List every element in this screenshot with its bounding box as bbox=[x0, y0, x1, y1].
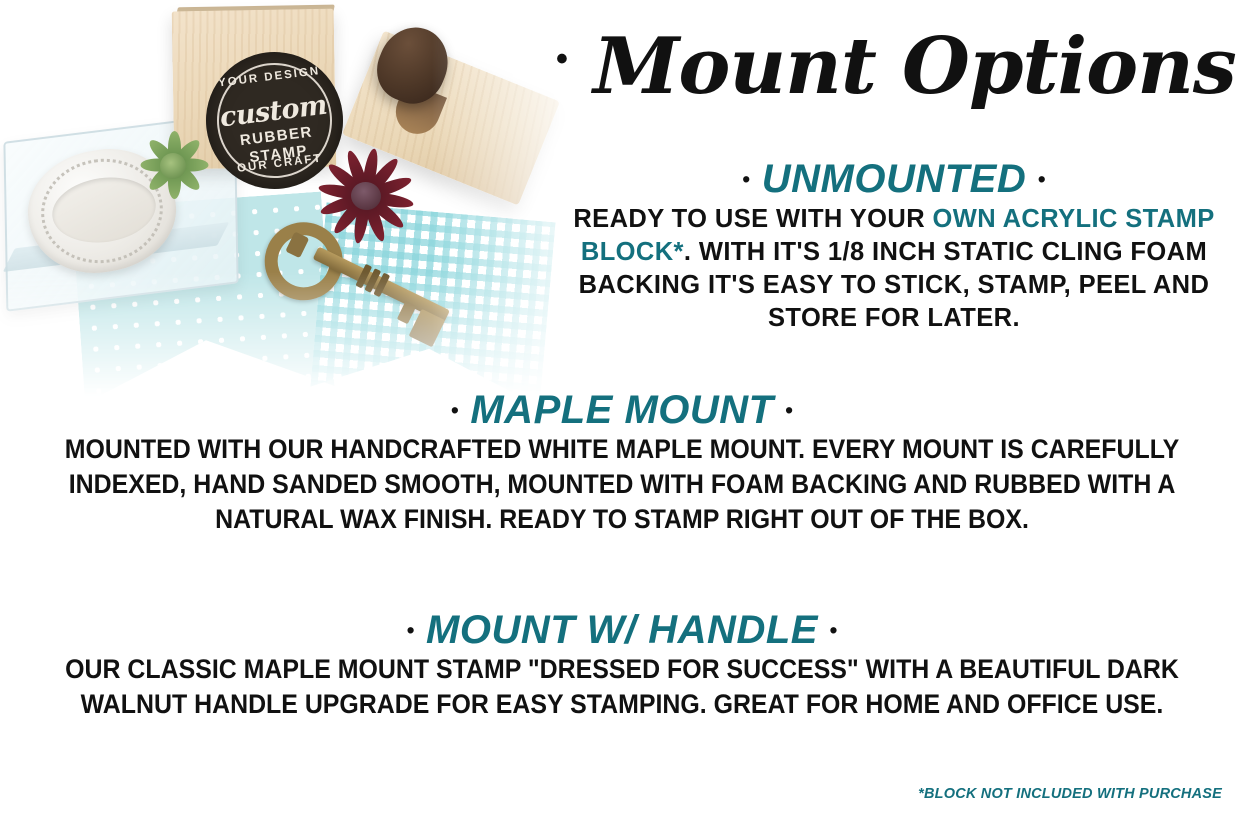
body-run: READY TO USE WITH YOUR bbox=[573, 205, 932, 233]
heading-text-mount-w-handle: MOUNT W/ HANDLE bbox=[426, 608, 818, 652]
section-heading-mount-w-handle: • MOUNT W/ HANDLE • bbox=[22, 608, 1222, 653]
heading-bullet-left: • bbox=[407, 617, 415, 642]
product-photo: YOUR DESIGN custom RUBBER STAMP OUR CRAF… bbox=[0, 0, 600, 400]
section-heading-unmounted: • UNMOUNTED • bbox=[566, 157, 1222, 202]
section-body-unmounted: READY TO USE WITH YOUR OWN ACRYLIC STAMP… bbox=[566, 203, 1222, 336]
title-text: Mount Options bbox=[593, 21, 1236, 112]
footnote-block-not-included: *BLOCK NOT INCLUDED WITH PURCHASE bbox=[918, 786, 1222, 802]
heading-bullet-right: • bbox=[830, 617, 838, 642]
succulent-plant bbox=[135, 128, 209, 202]
succulent-core bbox=[160, 153, 186, 179]
section-heading-maple-mount: • MAPLE MOUNT • bbox=[22, 388, 1222, 433]
mount-options-infographic: YOUR DESIGN custom RUBBER STAMP OUR CRAF… bbox=[0, 0, 1244, 829]
heading-bullet-left: • bbox=[742, 166, 750, 191]
heading-bullet-left: • bbox=[451, 397, 459, 422]
section-body-mount-w-handle: OUR CLASSIC MAPLE MOUNT STAMP "DRESSED F… bbox=[58, 652, 1186, 722]
section-body-maple-mount: MOUNTED WITH OUR HANDCRAFTED WHITE MAPLE… bbox=[58, 432, 1186, 537]
page-title: • Mount Options • bbox=[556, 28, 1244, 106]
heading-bullet-right: • bbox=[785, 397, 793, 422]
heading-bullet-right: • bbox=[1038, 166, 1046, 191]
heading-text-maple-mount: MAPLE MOUNT bbox=[470, 388, 773, 432]
heading-text-unmounted: UNMOUNTED bbox=[762, 157, 1026, 201]
title-bullet-left: • bbox=[556, 40, 567, 78]
key-bit-small bbox=[397, 301, 417, 324]
